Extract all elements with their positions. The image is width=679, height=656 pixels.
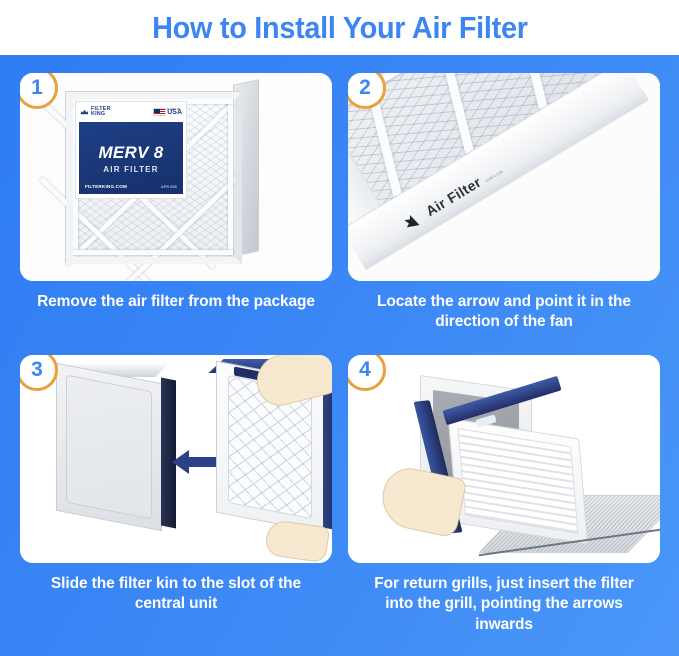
apr-code-text: APR 850 bbox=[161, 185, 177, 189]
step-3-image bbox=[20, 355, 332, 563]
step-1: FILTER KING MADE IN USA bbox=[20, 73, 332, 312]
airflow-arrow-icon bbox=[399, 211, 424, 236]
caption-line: Slide the filter kin to the slot of the bbox=[20, 574, 332, 594]
step-2-caption: Locate the arrow and point it in the dir… bbox=[348, 292, 660, 333]
brand-wordmark: FILTER KING bbox=[91, 107, 111, 117]
step-4-card: 4 bbox=[348, 355, 660, 563]
crown-icon bbox=[80, 108, 89, 117]
product-type-text: AIR FILTER bbox=[103, 165, 158, 174]
caption-line: central unit bbox=[20, 594, 332, 614]
new-filter-side-edge bbox=[323, 375, 332, 530]
grill-louvers bbox=[457, 428, 578, 534]
insert-direction-arrow-icon bbox=[172, 447, 216, 477]
filter-king-logo: FILTER KING bbox=[80, 107, 111, 117]
step-2-image: Air Filter AIRFLOW bbox=[348, 73, 660, 281]
label-header-row: FILTER KING MADE IN USA bbox=[76, 102, 186, 122]
step-3-card: 3 bbox=[20, 355, 332, 563]
step-1-image: FILTER KING MADE IN USA bbox=[20, 73, 332, 281]
steps-grid: FILTER KING MADE IN USA bbox=[0, 55, 679, 656]
air-filter-product-photo: FILTER KING MADE IN USA bbox=[65, 91, 245, 263]
step-4-caption: For return grills, just insert the filte… bbox=[348, 574, 660, 635]
caption-line: direction of the fan bbox=[348, 312, 660, 332]
central-unit-slot bbox=[56, 363, 162, 532]
step-2-card: Air Filter AIRFLOW 2 bbox=[348, 73, 660, 281]
caption-line: inwards bbox=[348, 615, 660, 635]
filter-brand-label: FILTER KING MADE IN USA bbox=[75, 101, 187, 199]
hand-lower bbox=[264, 519, 330, 563]
caption-line: Locate the arrow and point it in the bbox=[348, 292, 660, 312]
step-2: Air Filter AIRFLOW 2 Locate the arrow an… bbox=[348, 73, 660, 333]
website-text: FILTERKING.COM bbox=[85, 184, 127, 189]
step-3-caption: Slide the filter kin to the slot of the … bbox=[20, 574, 332, 615]
page-title: How to Install Your Air Filter bbox=[152, 10, 528, 46]
unit-slot-opening bbox=[66, 375, 152, 520]
airflow-sub-text: AIRFLOW bbox=[484, 169, 504, 184]
brand-line-2: KING bbox=[91, 112, 111, 117]
step-1-caption: Remove the air filter from the package bbox=[20, 292, 332, 312]
header-bar: How to Install Your Air Filter bbox=[0, 0, 679, 55]
origin-country-text: USA bbox=[167, 110, 182, 116]
filter-corner-closeup: Air Filter AIRFLOW bbox=[348, 73, 649, 270]
caption-line: Remove the air filter from the package bbox=[20, 292, 332, 312]
caption-line: For return grills, just insert the filte… bbox=[348, 574, 660, 594]
step-4: 4 For return grills, just insert the fil… bbox=[348, 355, 660, 635]
caption-line: into the grill, pointing the arrows bbox=[348, 594, 660, 614]
label-footer-row: FILTERKING.COM APR 850 bbox=[85, 184, 177, 189]
return-grill-door bbox=[448, 417, 589, 544]
merv-rating-text: MERV 8 bbox=[98, 143, 163, 163]
usa-flag-icon bbox=[153, 108, 166, 116]
air-filter-print-text: Air Filter bbox=[423, 174, 484, 219]
label-main-panel: MERV 8 AIR FILTER FILTERKING.COM APR 850 bbox=[79, 122, 183, 194]
step-3: 3 Slide the filter kin to the slot of th… bbox=[20, 355, 332, 615]
step-1-card: FILTER KING MADE IN USA bbox=[20, 73, 332, 281]
made-in-usa-badge: MADE IN USA bbox=[153, 108, 182, 117]
step-4-image bbox=[348, 355, 660, 563]
